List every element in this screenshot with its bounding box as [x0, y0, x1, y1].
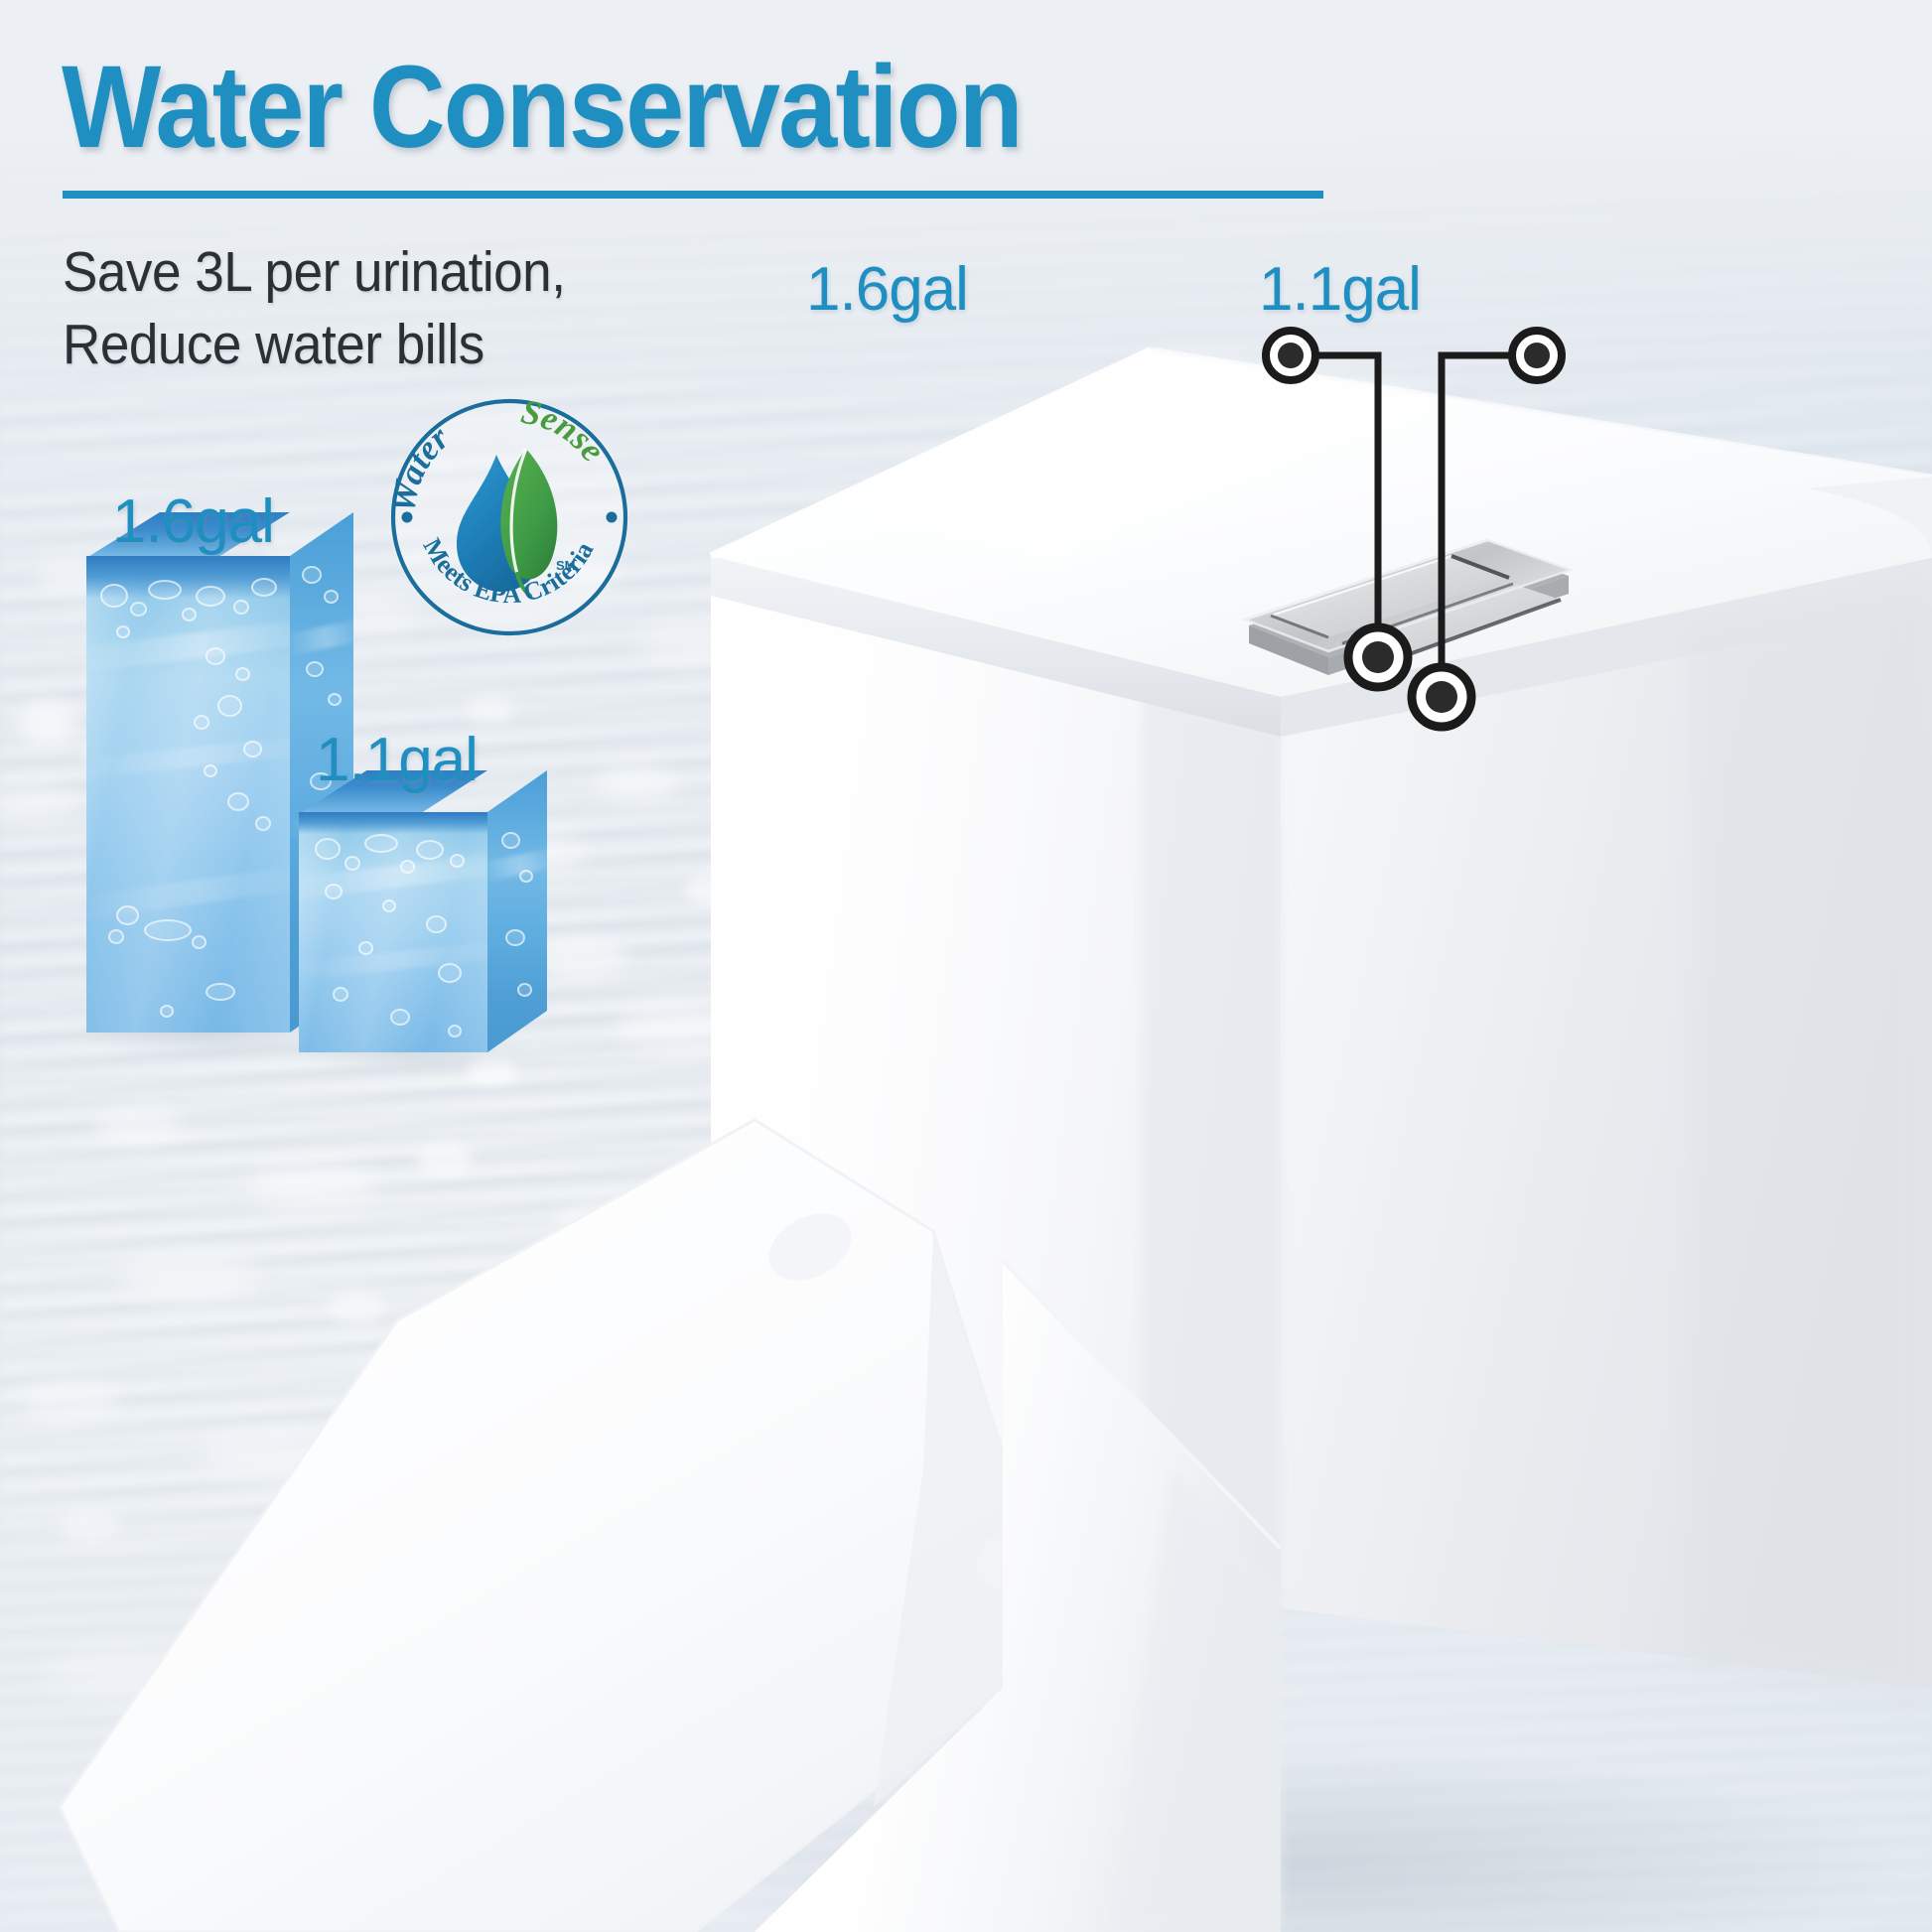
leader-line-full-flush — [1291, 355, 1378, 657]
callout-marker-full-flush-button — [1348, 627, 1408, 687]
page-title: Water Conservation — [62, 48, 1022, 167]
callout-label-full-flush: 1.6gal — [806, 254, 968, 325]
subtitle-line-1: Save 3L per urination, — [63, 236, 565, 309]
callout-marker-half-flush-label — [1512, 331, 1562, 380]
infographic-canvas: 1.6gal 1.1gal — [0, 0, 1932, 1932]
callout-marker-half-flush-button — [1412, 667, 1471, 727]
subtitle-line-2: Reduce water bills — [63, 309, 565, 381]
callout-label-half-flush: 1.1gal — [1259, 254, 1421, 325]
page-subtitle: Save 3L per urination, Reduce water bill… — [63, 236, 565, 381]
callout-marker-full-flush-label — [1266, 331, 1315, 380]
title-underline-rule — [63, 191, 1323, 199]
leader-line-half-flush — [1442, 355, 1537, 697]
